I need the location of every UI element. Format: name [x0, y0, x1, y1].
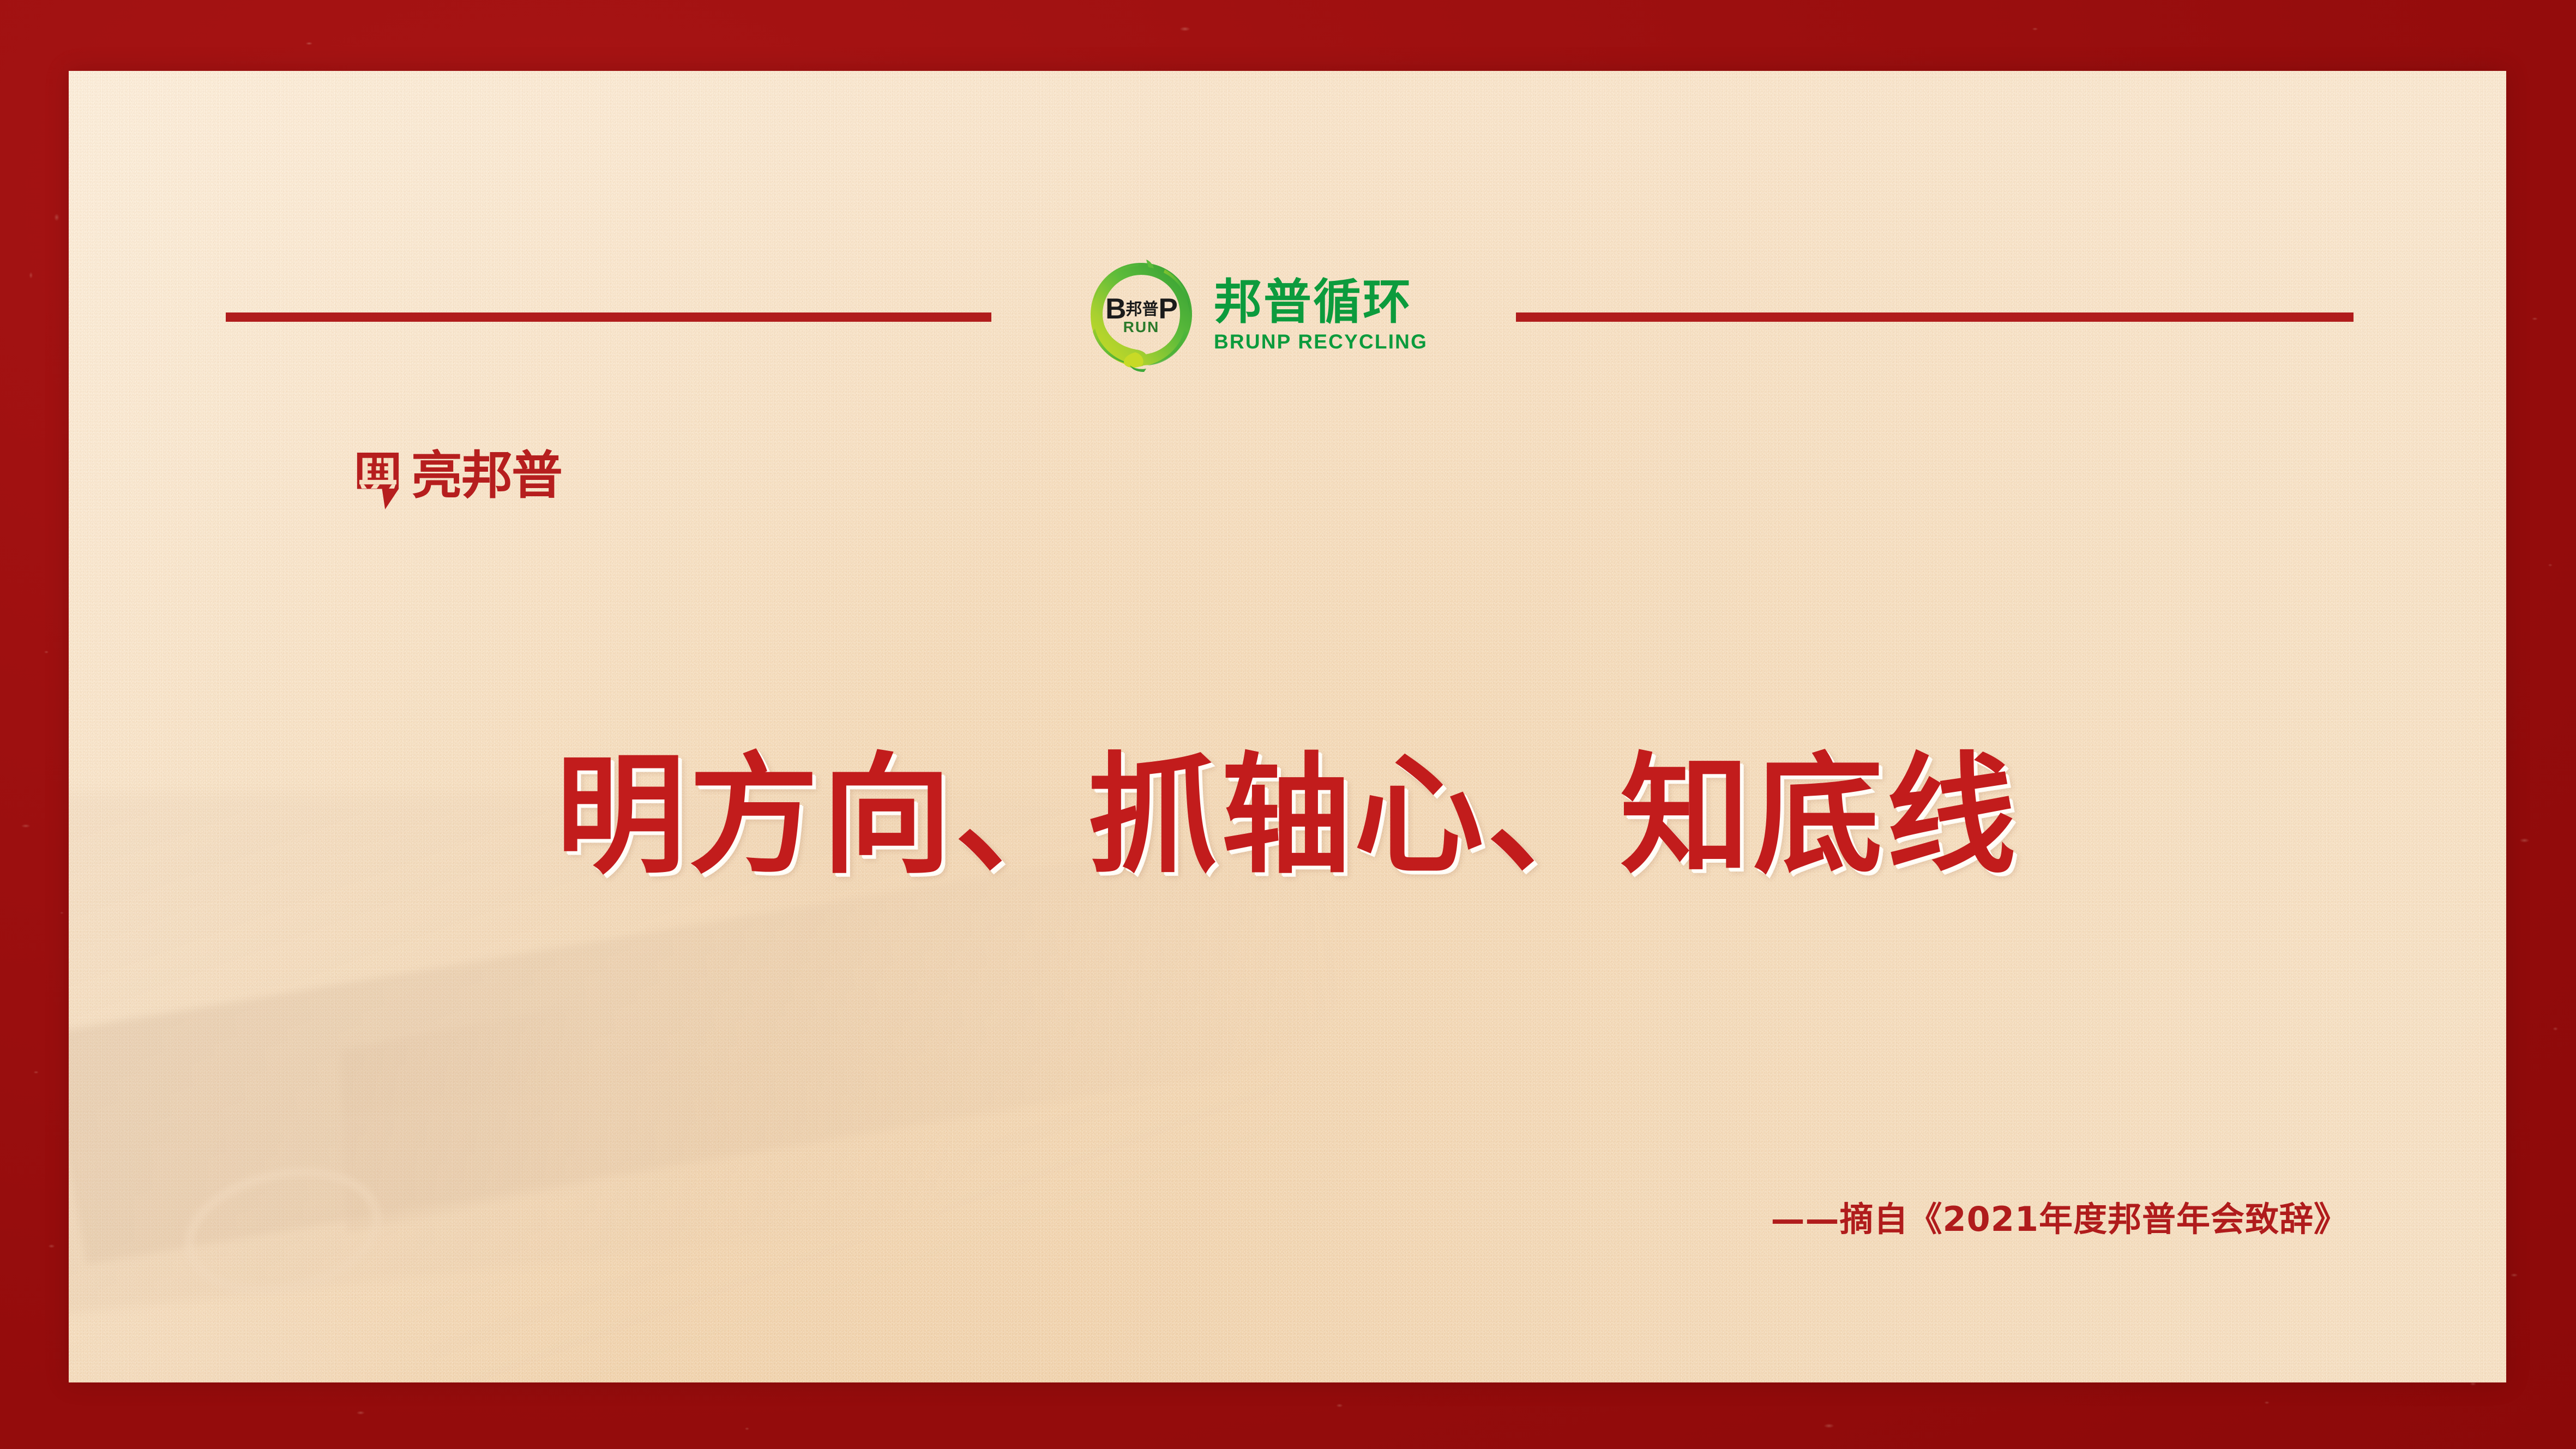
- enso-bottom-line: RUN: [1083, 320, 1200, 335]
- speech-bubble-dian-icon: [348, 453, 408, 509]
- brunp-enso-brush-circle-logo: B邦普P RUN: [1083, 256, 1200, 373]
- brand-text-block: 邦普循环 BRUNP RECYCLING: [1214, 278, 1428, 352]
- slide-root: B邦普P RUN 邦普循环 BRUNP RECYCLING: [0, 0, 2576, 1449]
- enso-letter-p: P: [1158, 293, 1177, 325]
- brand-name-en: BRUNP RECYCLING: [1214, 332, 1428, 352]
- brand-lockup: B邦普P RUN 邦普循环 BRUNP RECYCLING: [1083, 256, 1428, 373]
- page-title: 明方向、抓轴心、知底线: [69, 744, 2506, 889]
- dianliangbangpu-badge: 亮邦普: [348, 453, 562, 509]
- header-rule-right: [1516, 312, 2354, 322]
- enso-inner-wordmark: B邦普P RUN: [1083, 294, 1200, 335]
- content-panel: B邦普P RUN 邦普循环 BRUNP RECYCLING: [69, 71, 2506, 1382]
- enso-letter-b: B: [1105, 293, 1126, 325]
- attribution-text: ——摘自《2021年度邦普年会致辞》: [1771, 1192, 2348, 1241]
- enso-cjk-mark: 邦普: [1126, 300, 1158, 318]
- header-rule-left: [226, 312, 991, 322]
- badge-word: 亮邦普: [411, 453, 562, 500]
- brand-name-cn: 邦普循环: [1214, 278, 1428, 326]
